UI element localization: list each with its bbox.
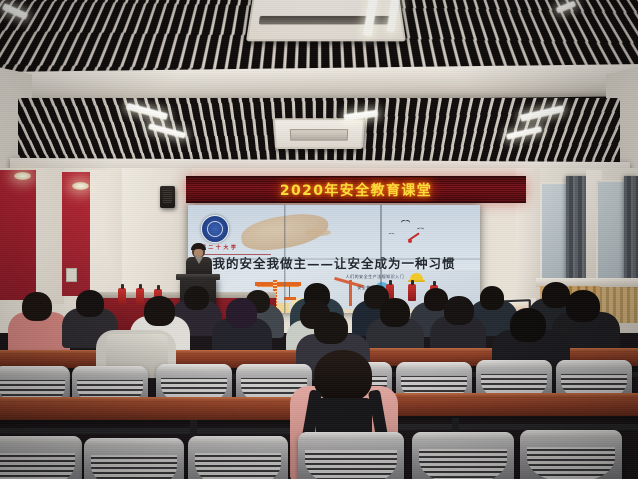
bird-icon (388, 233, 393, 236)
chair[interactable] (0, 436, 82, 479)
slide-red-marker (407, 229, 421, 243)
slide-subtitle-1: 人们的安全生产法规知识入门 (346, 274, 405, 280)
desk-edge (0, 397, 332, 402)
desk-rail (0, 428, 332, 434)
audience-head (76, 290, 104, 317)
slide-headline: 我的安全我做主——让安全成为一种习惯 (188, 253, 480, 272)
recessed-downlight (14, 172, 31, 180)
chair[interactable] (188, 436, 288, 479)
light-switch[interactable] (66, 268, 77, 282)
chair[interactable] (298, 432, 404, 479)
university-emblem-icon (201, 215, 229, 243)
recessed-downlight (72, 182, 89, 190)
lecture-room-photo: 2020年安全教育课堂 中国 二 十 大 学 我的安全我做主——让安全成 (0, 0, 638, 479)
chair[interactable] (84, 438, 184, 479)
audience-head (314, 312, 348, 344)
ceiling (0, 0, 638, 178)
audience-head (144, 296, 175, 326)
bird-icon (401, 220, 410, 225)
wall-column (90, 170, 124, 302)
audience-head (480, 286, 504, 310)
curtain (624, 176, 638, 288)
chair[interactable] (412, 432, 514, 479)
ceiling-ac-unit-lower (273, 118, 365, 149)
foreground-person-head (314, 350, 372, 402)
wall-speaker-icon (160, 186, 175, 208)
desk (0, 400, 332, 420)
ceiling-ac-unit-upper (246, 0, 406, 41)
audience-head (566, 290, 600, 322)
chair[interactable] (520, 430, 622, 479)
wall-column (36, 168, 64, 304)
wall-panel-red (0, 170, 38, 300)
audience-head (184, 286, 209, 310)
audience-head (444, 296, 474, 325)
audience-head (22, 292, 52, 321)
audience-head (510, 308, 546, 342)
fire-extinguisher (408, 284, 416, 301)
desk-edge (332, 348, 638, 352)
fire-extinguisher (118, 288, 126, 305)
audience-head (380, 298, 410, 327)
led-banner-text: 2020年安全教育课堂 (280, 180, 432, 200)
fire-extinguisher (136, 288, 144, 305)
led-banner: 2020年安全教育课堂 (186, 176, 526, 203)
audience-head (226, 298, 257, 328)
